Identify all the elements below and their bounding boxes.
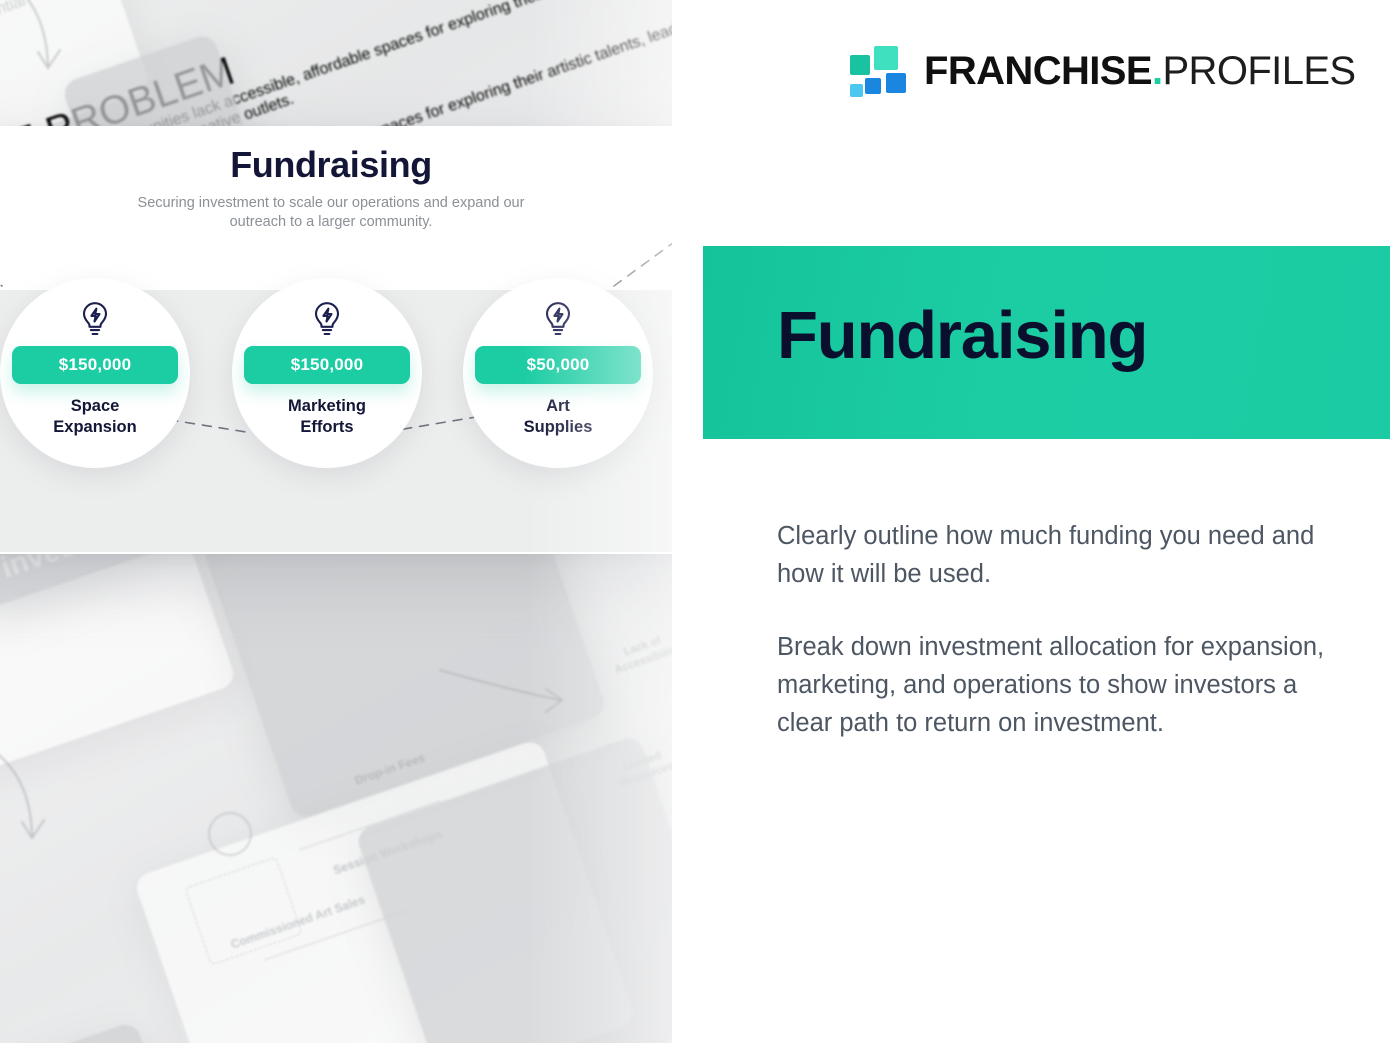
fundraising-preview-card[interactable]: Fundraising Securing investment to scale… [0,126,672,554]
logo-wordmark: FRANCHISE.PROFILES [924,51,1356,91]
funding-amount-badge: $50,000 [475,346,641,384]
logo-dot: . [1152,49,1163,93]
slide-canvas: MARKET Art spaces in urban and suburban … [0,0,1390,1043]
preview-card-subtitle: Securing investment to scale our operati… [111,194,551,231]
mint-square-large-icon [874,46,898,70]
funding-item-label: Art Supplies [474,396,642,438]
funding-item-label: Space Expansion [11,396,179,438]
logo-mark-squares [848,40,910,102]
cyan-square-small-icon [850,84,863,97]
content-panel: FRANCHISE.PROFILES Fundraising Clearly o… [672,0,1390,1043]
lightbulb-bolt-icon [541,300,575,338]
funding-item-art-supplies[interactable]: $50,000 Art Supplies [463,278,653,468]
preview-card-title: Fundraising [0,144,672,186]
logo-word-franchise: FRANCHISE [924,49,1152,93]
page-title: Fundraising [777,302,1147,369]
franchise-profiles-logo[interactable]: FRANCHISE.PROFILES [848,40,1356,102]
blue-square-small-icon [865,78,881,94]
description-paragraph-1: Clearly outline how much funding you nee… [777,517,1357,594]
funding-item-label: Marketing Efforts [243,396,411,438]
pitch-deck-background: MARKET Art spaces in urban and suburban … [0,0,672,1043]
lightbulb-bolt-icon [310,300,344,338]
funding-item-space-expansion[interactable]: $150,000 Space Expansion [0,278,190,468]
lightbulb-bolt-icon [78,300,112,338]
funding-item-marketing-efforts[interactable]: $150,000 Marketing Efforts [232,278,422,468]
blue-square-medium-icon [886,73,906,93]
description-paragraph-2: Break down investment allocation for exp… [777,628,1357,743]
background-label-accessibility-mid: Lack of Accessibility [589,623,672,685]
description-block: Clearly outline how much funding you nee… [777,517,1357,742]
teal-square-large-icon [850,55,870,75]
background-market-body-mid: Art spaces in urban and suburban markets… [0,791,3,864]
logo-word-profiles: PROFILES [1162,49,1355,93]
funding-amount-badge: $150,000 [12,346,178,384]
funding-amount-badge: $150,000 [244,346,410,384]
